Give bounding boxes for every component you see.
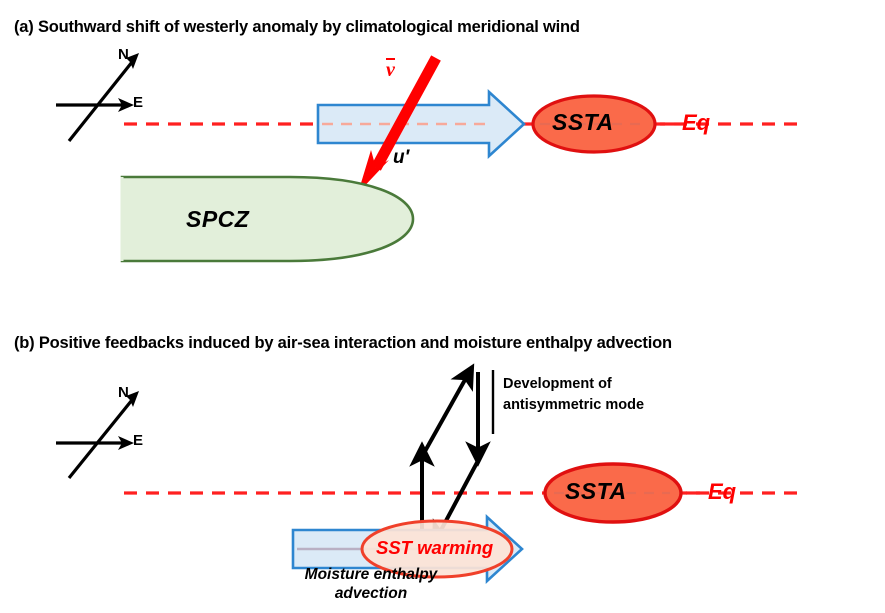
equator-label-a: Eq	[682, 110, 710, 136]
development-label-line1: Development of	[503, 374, 644, 395]
moisture-label-line2: advection	[276, 584, 466, 603]
westerly-anomaly-arrow	[318, 92, 524, 156]
compass-rose-panel-a	[56, 53, 139, 141]
compass-rose-panel-b	[56, 391, 139, 478]
moisture-advection-label: Moisture enthalpy advection	[276, 565, 466, 604]
meridional-wind-arrow	[358, 58, 436, 193]
arrow-down-diagonal	[440, 457, 480, 532]
equator-label-b: Eq	[708, 479, 736, 505]
panel-a-title: (a) Southward shift of westerly anomaly …	[14, 18, 580, 37]
ssta-label-b: SSTA	[565, 478, 627, 505]
compass-east-label-a: E	[133, 94, 143, 111]
compass-north-label-a: N	[118, 46, 129, 63]
vbar-overline: v	[386, 58, 395, 80]
development-label: Development of antisymmetric mode	[503, 374, 644, 416]
arrow-up-diagonal	[424, 378, 466, 453]
feedback-arrows	[422, 370, 493, 538]
compass-north-label-b: N	[118, 384, 129, 401]
spcz-shape	[122, 177, 413, 261]
development-label-line2: antisymmetric mode	[503, 395, 644, 416]
spcz-label: SPCZ	[186, 206, 249, 233]
westerly-anomaly-label: u′	[393, 147, 409, 169]
ssta-label-a: SSTA	[552, 109, 614, 136]
meridional-wind-label: v	[386, 58, 395, 82]
compass-east-label-b: E	[133, 432, 143, 449]
moisture-label-line1: Moisture enthalpy	[276, 565, 466, 584]
sst-warming-label: SST warming	[376, 537, 493, 559]
panel-b-title: (b) Positive feedbacks induced by air-se…	[14, 334, 672, 353]
diagram-canvas	[0, 0, 885, 613]
